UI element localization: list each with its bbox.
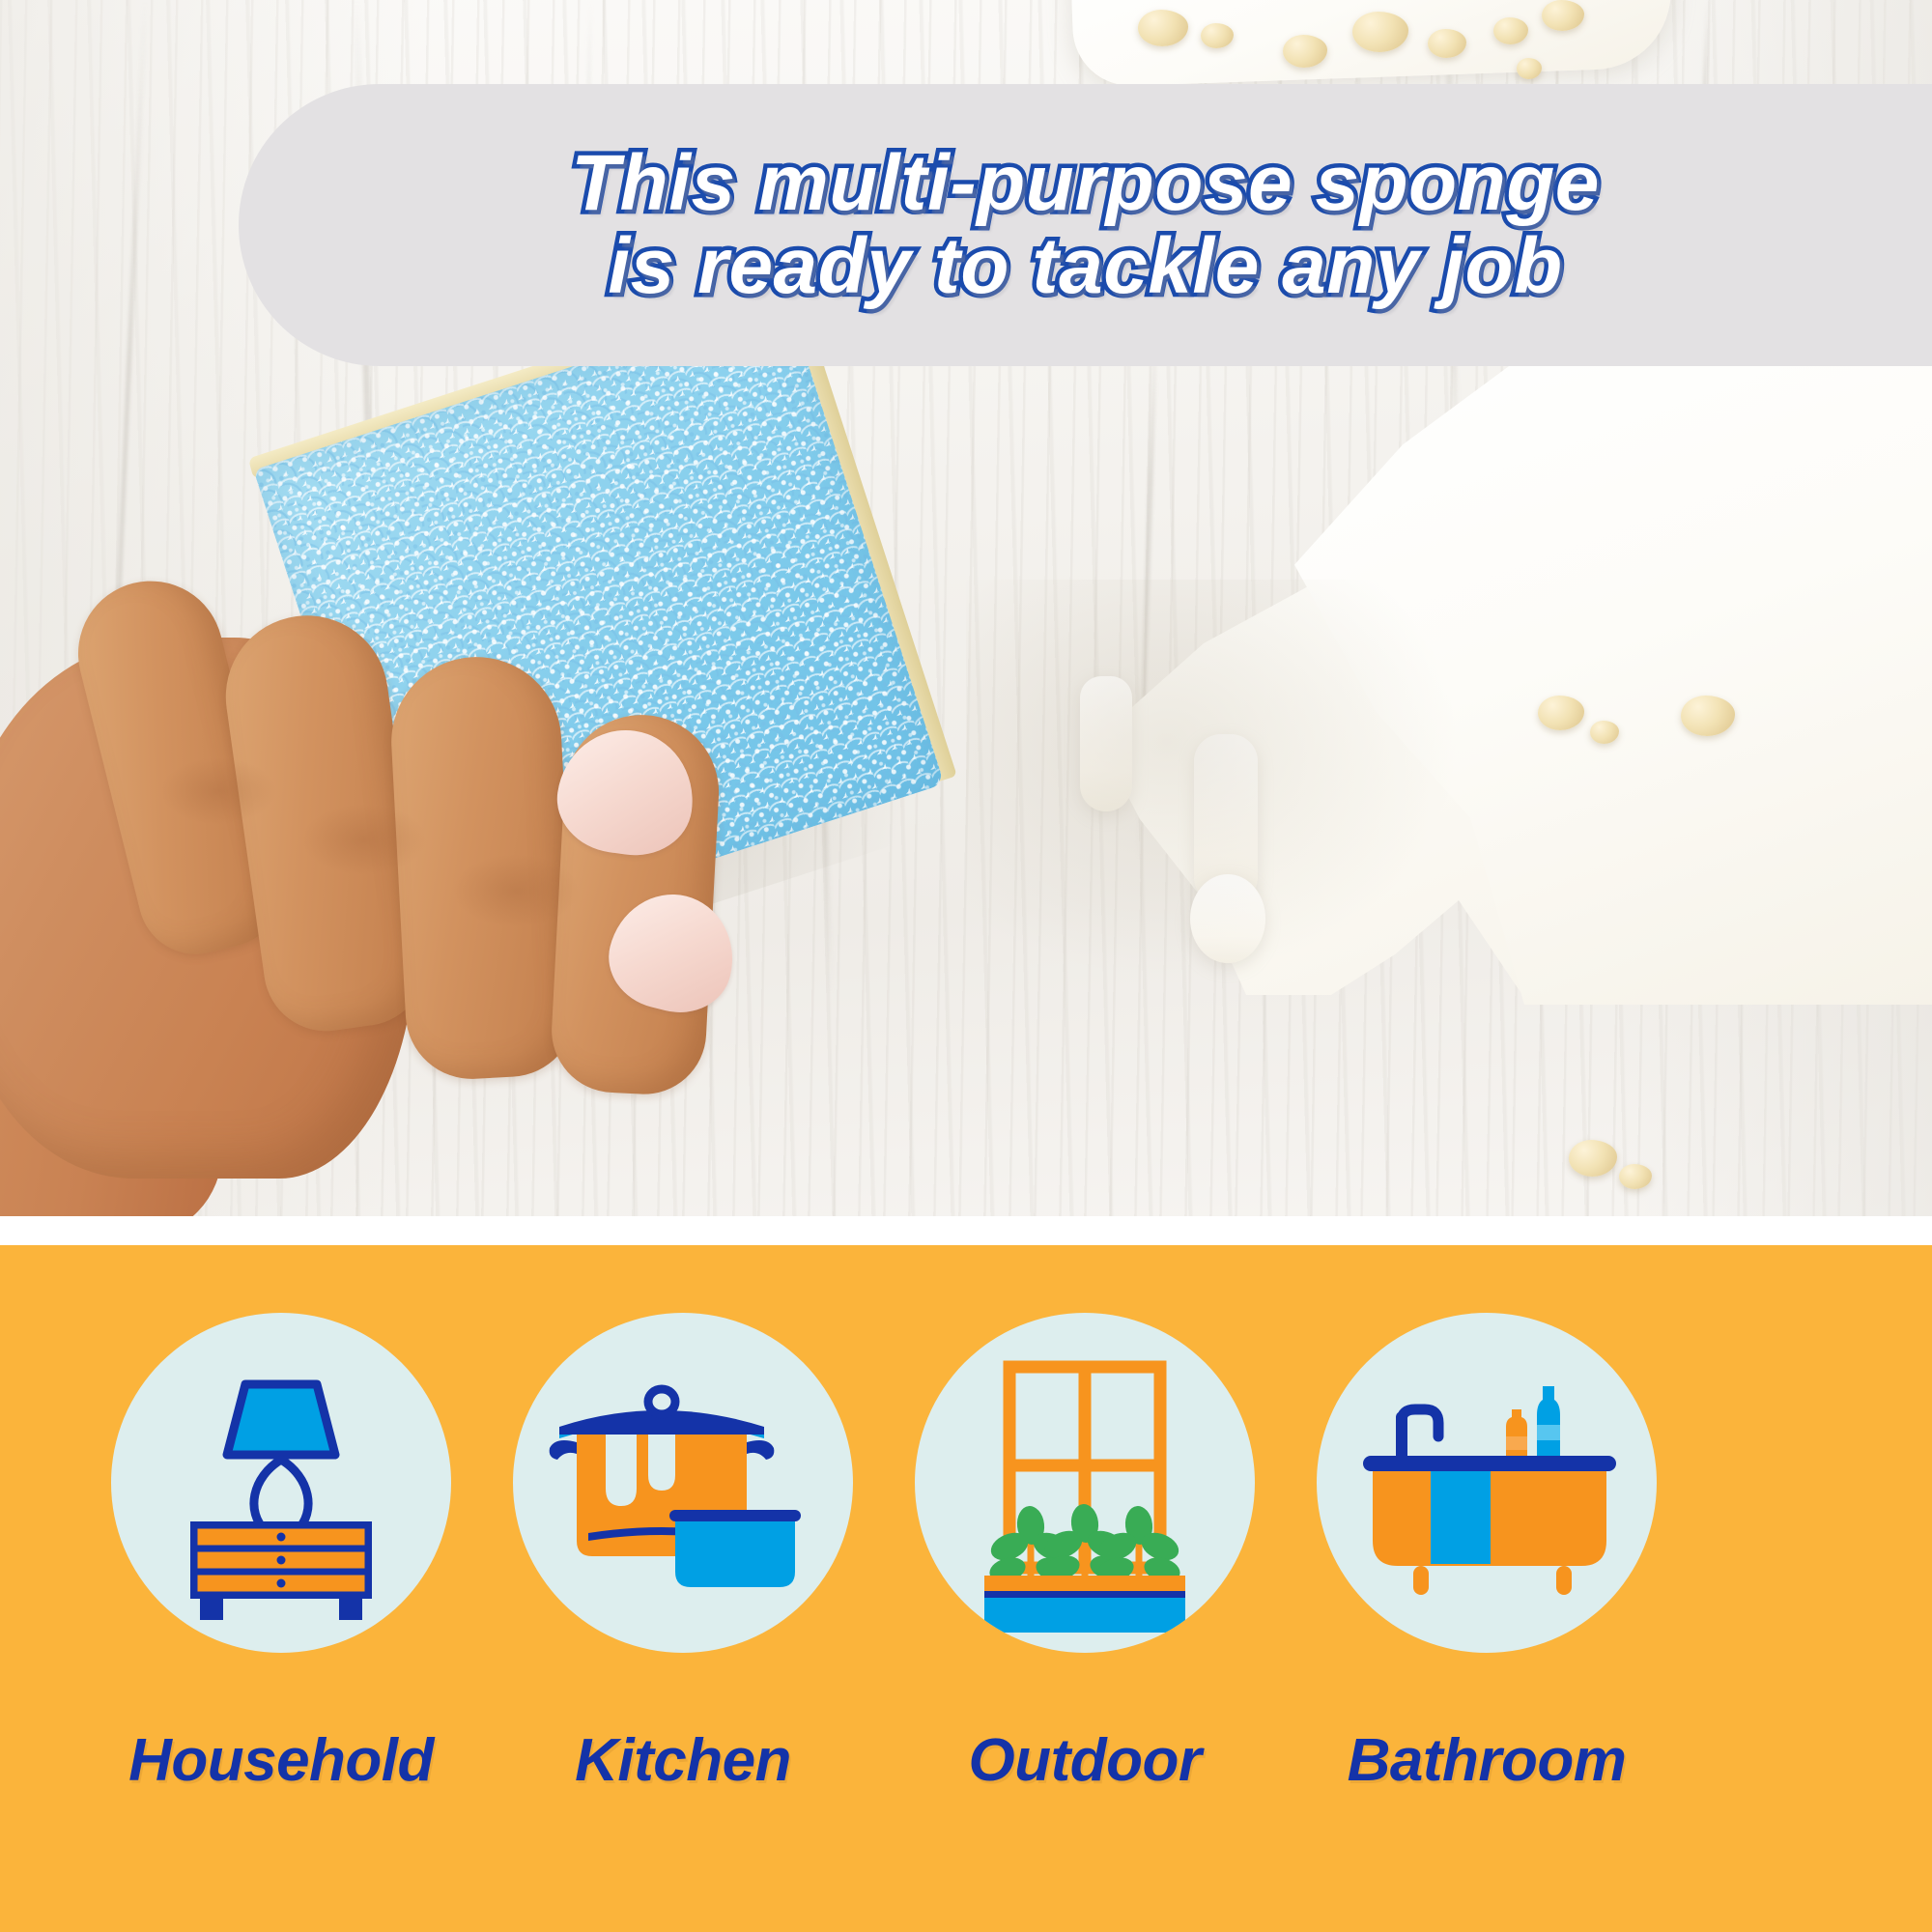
hero-photo: This multi-purpose sponge is ready to ta… bbox=[0, 0, 1932, 1216]
category-icon-circle bbox=[111, 1313, 451, 1653]
headline-line-1: This multi-purpose sponge bbox=[571, 143, 1600, 224]
category-icon-circle bbox=[1317, 1313, 1657, 1653]
category-row: Household bbox=[111, 1313, 1840, 1767]
hand bbox=[0, 522, 831, 1216]
category-icon-circle bbox=[513, 1313, 853, 1653]
knuckle-crease bbox=[301, 804, 427, 875]
category-item-household[interactable]: Household bbox=[111, 1313, 451, 1795]
category-label: Household bbox=[128, 1726, 434, 1795]
bathtub-icon bbox=[1317, 1313, 1657, 1653]
category-item-kitchen[interactable]: Kitchen bbox=[513, 1313, 853, 1795]
section-divider bbox=[0, 1216, 1932, 1245]
category-item-outdoor[interactable]: Outdoor bbox=[915, 1313, 1255, 1795]
category-label: Kitchen bbox=[575, 1726, 791, 1795]
category-item-bathroom[interactable]: Bathroom bbox=[1317, 1313, 1657, 1795]
headline-line-2: is ready to tackle any job bbox=[608, 226, 1562, 307]
knuckle-crease bbox=[160, 757, 276, 825]
window-planter-icon bbox=[915, 1313, 1255, 1653]
knuckle-crease bbox=[452, 854, 580, 927]
product-banner-page: This multi-purpose sponge is ready to ta… bbox=[0, 0, 1932, 1932]
headline-banner: This multi-purpose sponge is ready to ta… bbox=[239, 84, 1932, 366]
category-label: Bathroom bbox=[1348, 1726, 1627, 1795]
spill-shadow bbox=[966, 580, 1468, 985]
category-icon-circle bbox=[915, 1313, 1255, 1653]
cooking-pot-icon bbox=[513, 1313, 853, 1653]
category-label: Outdoor bbox=[969, 1726, 1202, 1795]
nightstand-lamp-icon bbox=[111, 1313, 451, 1653]
category-strip: Household bbox=[0, 1245, 1932, 1932]
